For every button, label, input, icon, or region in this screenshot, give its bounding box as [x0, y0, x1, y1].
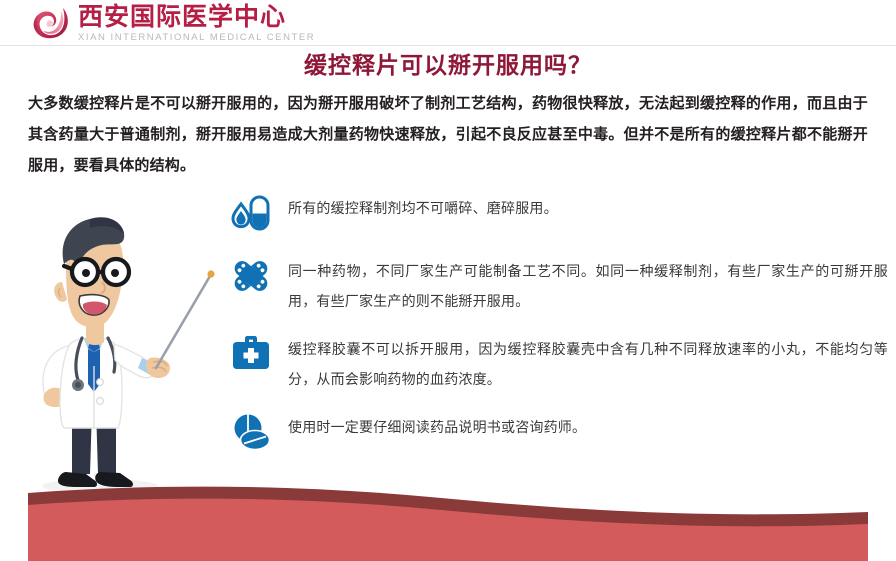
- list-item: 使用时一定要仔细阅读药品说明书或咨询药师。: [228, 411, 888, 457]
- two-tablets-icon: [228, 411, 274, 457]
- list-item: 同一种药物，不同厂家生产可能制备工艺不同。如同一种缓释制剂，有些厂家生产的可掰开…: [228, 255, 888, 317]
- capsule-droplet-icon: [228, 192, 274, 238]
- list-item-text: 所有的缓控释制剂均不可嚼碎、磨碎服用。: [288, 192, 888, 224]
- crossed-bandages-icon: [228, 255, 274, 301]
- list-item: 所有的缓控释制剂均不可嚼碎、磨碎服用。: [228, 192, 888, 238]
- brand-name-en: XIAN INTERNATIONAL MEDICAL CENTER: [78, 32, 315, 44]
- first-aid-kit-icon: [228, 333, 274, 379]
- advice-list: 所有的缓控释制剂均不可嚼碎、磨碎服用。: [228, 192, 888, 471]
- cartoon-doctor-illustration: [10, 196, 225, 496]
- list-item-text: 缓控释胶囊不可以拆开服用，因为缓控释胶囊壳中含有几种不同释放速率的小丸，不能均匀…: [288, 333, 888, 395]
- phoenix-swirl-logo-icon: [28, 2, 72, 44]
- intro-paragraph: 大多数缓控释片是不可以掰开服用的，因为掰开服用破坏了制剂工艺结构，药物很快释放，…: [28, 88, 868, 181]
- brand-name-cn: 西安国际医学中心: [78, 3, 315, 31]
- red-wave-band: [0, 466, 896, 561]
- header-divider: [0, 45, 896, 46]
- list-item-text: 同一种药物，不同厂家生产可能制备工艺不同。如同一种缓释制剂，有些厂家生产的可掰开…: [288, 255, 888, 317]
- list-item-text: 使用时一定要仔细阅读药品说明书或咨询药师。: [288, 411, 888, 443]
- brand-logo[interactable]: 西安国际医学中心 XIAN INTERNATIONAL MEDICAL CENT…: [28, 2, 315, 44]
- site-header: 西安国际医学中心 XIAN INTERNATIONAL MEDICAL CENT…: [0, 0, 896, 46]
- page-title: 缓控释片可以掰开服用吗？: [0, 52, 896, 80]
- list-item: 缓控释胶囊不可以拆开服用，因为缓控释胶囊壳中含有几种不同释放速率的小丸，不能均匀…: [228, 333, 888, 395]
- brand-text-block: 西安国际医学中心 XIAN INTERNATIONAL MEDICAL CENT…: [78, 2, 315, 44]
